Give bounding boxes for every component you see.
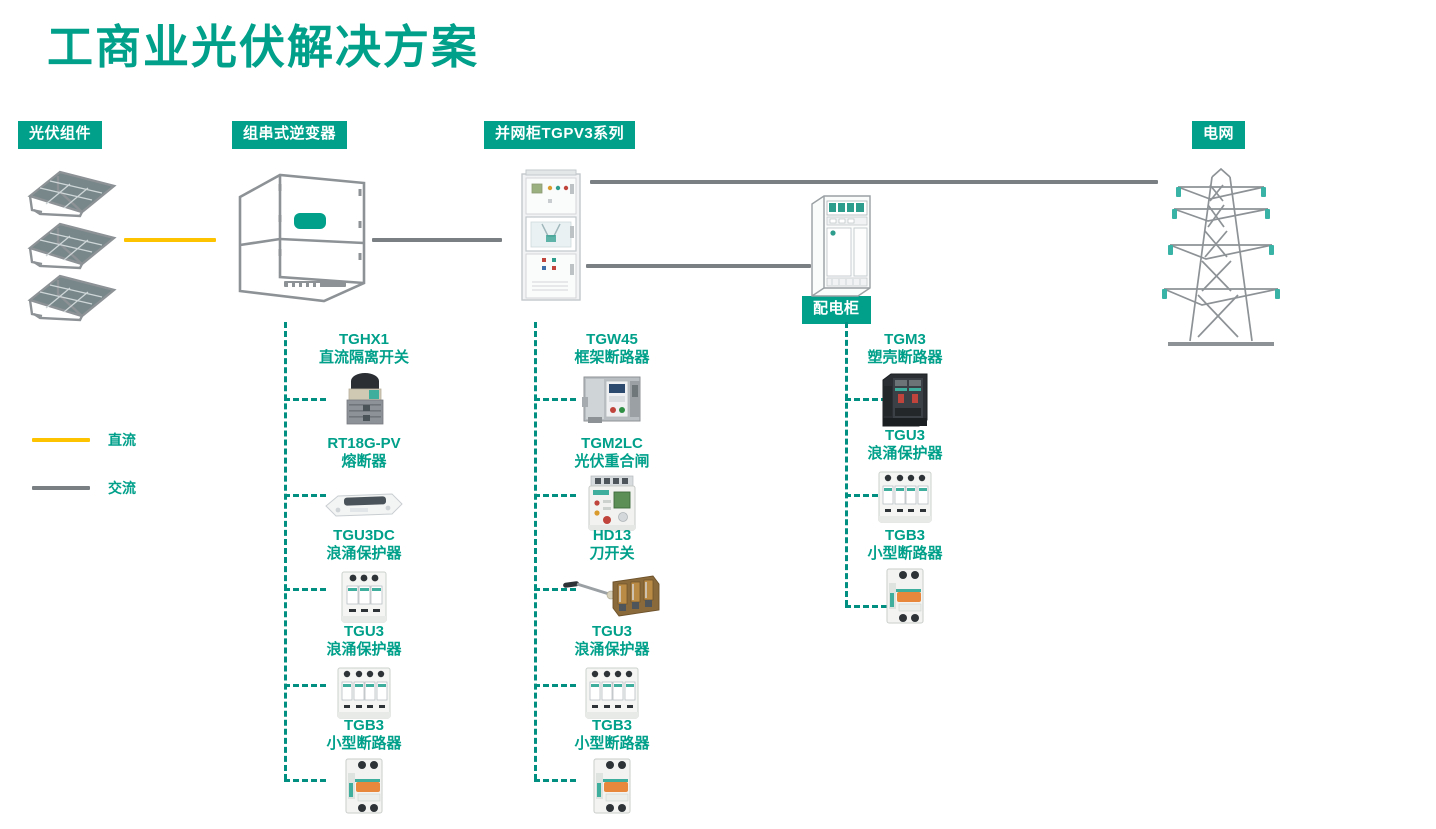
legend-label-ac: 交流 [108,478,136,498]
product-name: 光伏重合闸 [522,453,702,471]
spd-4p-icon [815,464,995,526]
product-tgb3-grid: TGB3 小型断路器 [522,717,702,816]
product-name: 小型断路器 [815,545,995,563]
product-hd13: HD13 刀开关 [522,527,702,626]
product-name: 浪涌保护器 [274,545,454,563]
product-name: 塑壳断路器 [815,349,995,367]
badge-string-inverter: 组串式逆变器 [232,121,347,149]
product-tgu3-dist: TGU3 浪涌保护器 [815,427,995,526]
ac-line-icon [32,486,90,490]
product-name: 刀开关 [522,545,702,563]
knife-switch-icon [522,564,702,626]
spd-4p-icon [522,660,702,722]
ac-wire-inverter-to-grid-cabinet [372,238,502,242]
grid-cabinet [520,168,582,302]
product-tgb3-dist: TGB3 小型断路器 [815,527,995,626]
fuse-icon [274,472,454,534]
product-name: 浪涌保护器 [274,641,454,659]
badge-grid-cabinet: 并网柜TGPV3系列 [484,121,635,149]
solution-diagram: 工商业光伏解决方案 光伏组件 组串式逆变器 并网柜TGPV3系列 配电柜 电网 [0,0,1436,829]
acb-icon [522,368,702,430]
badge-power-grid: 电网 [1192,121,1245,149]
spd-3p-icon [274,564,454,626]
legend-item-dc: 直流 [32,430,136,450]
product-code: TGHX1 [274,331,454,349]
product-tgm2lc: TGM2LC 光伏重合闸 [522,435,702,534]
product-code: TGU3DC [274,527,454,545]
product-code: RT18G-PV [274,435,454,453]
string-inverter [232,165,372,305]
recloser-icon [522,472,702,534]
product-name: 熔断器 [274,453,454,471]
product-code: TGM2LC [522,435,702,453]
product-name: 浪涌保护器 [522,641,702,659]
ac-wire-grid-cabinet-to-distribution [586,264,811,268]
product-rt18g-pv: RT18G-PV 熔断器 [274,435,454,534]
grid-cabinet-icon [520,168,582,302]
mcb-icon [522,754,702,816]
legend-item-ac: 交流 [32,478,136,498]
product-tgm3: TGM3 塑壳断路器 [815,331,995,430]
mcb-icon [274,754,454,816]
product-name: 小型断路器 [522,735,702,753]
page-title: 工商业光伏解决方案 [47,24,479,70]
product-code: TGU3 [815,427,995,445]
product-name: 直流隔离开关 [274,349,454,367]
product-tgu3: TGU3 浪涌保护器 [274,623,454,722]
product-code: TGB3 [815,527,995,545]
dc-isolator-icon [274,368,454,430]
product-code: TGW45 [522,331,702,349]
product-name: 浪涌保护器 [815,445,995,463]
product-code: TGB3 [274,717,454,735]
badge-distribution-cabinet: 配电柜 [802,296,871,324]
power-grid-tower [1160,165,1282,357]
dc-wire-panels-to-inverter [124,238,216,242]
product-tghx1: TGHX1 直流隔离开关 [274,331,454,430]
dc-line-icon [32,438,90,442]
distribution-cabinet-icon [808,192,874,298]
product-code: TGM3 [815,331,995,349]
string-inverter-icon [232,165,372,305]
spd-4p-icon [274,660,454,722]
ac-wire-grid-cabinet-to-grid [590,180,1158,184]
transmission-tower-icon [1160,165,1282,357]
mcb-icon [815,564,995,626]
mccb-icon [815,368,995,430]
solar-panel-array [22,166,122,326]
product-tgw45: TGW45 框架断路器 [522,331,702,430]
solar-panel-icon [22,166,122,326]
distribution-cabinet [808,192,874,298]
product-tgu3dc: TGU3DC 浪涌保护器 [274,527,454,626]
product-code: TGB3 [522,717,702,735]
product-tgb3: TGB3 小型断路器 [274,717,454,816]
product-code: TGU3 [274,623,454,641]
product-code: HD13 [522,527,702,545]
product-tgu3-grid: TGU3 浪涌保护器 [522,623,702,722]
product-name: 小型断路器 [274,735,454,753]
badge-pv-modules: 光伏组件 [18,121,102,149]
legend-label-dc: 直流 [108,430,136,450]
product-code: TGU3 [522,623,702,641]
product-name: 框架断路器 [522,349,702,367]
